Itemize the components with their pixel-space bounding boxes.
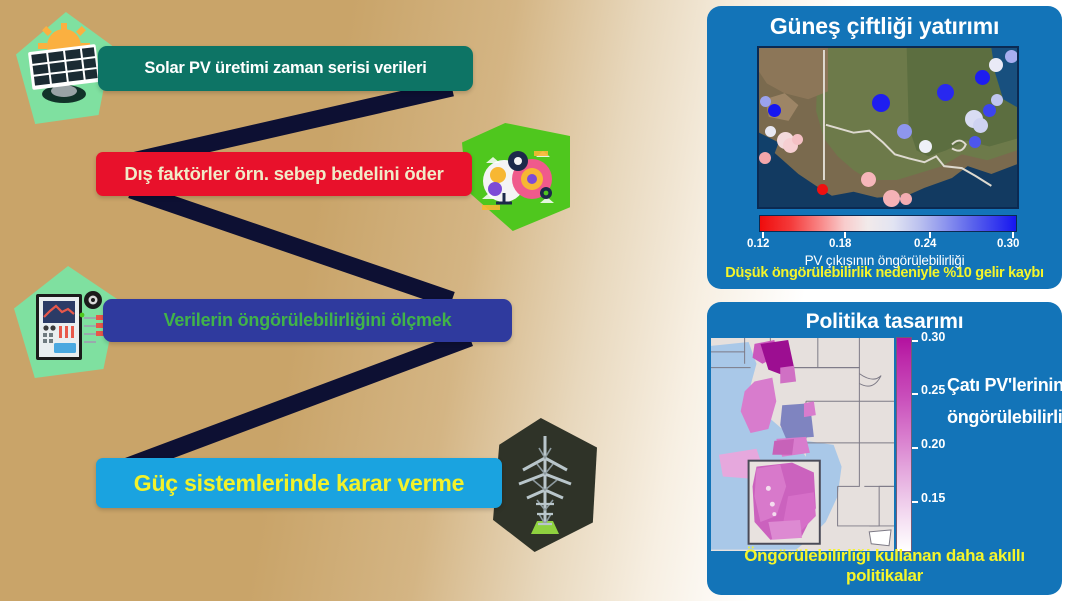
scatter-point bbox=[975, 70, 990, 85]
policy-choropleth-map[interactable] bbox=[710, 337, 895, 552]
scatter-point bbox=[973, 118, 988, 133]
scatter-point bbox=[983, 104, 996, 117]
solar-colorbar bbox=[759, 215, 1017, 232]
infographic-gears-icon bbox=[462, 123, 570, 231]
colorbar-tick-label: 0.25 bbox=[921, 383, 945, 397]
solar-card-title: Güneş çiftliği yatırımı bbox=[707, 6, 1062, 40]
scatter-point bbox=[919, 140, 932, 153]
scatter-point bbox=[991, 94, 1003, 106]
process-flow-diagram: Solar PV üretimi zaman serisi verileri D… bbox=[0, 0, 700, 601]
colorbar-tick-label: 0.24 bbox=[914, 238, 936, 250]
policy-card-caption: Öngörülebilirliği kullanan daha akıllı p… bbox=[707, 546, 1062, 586]
policy-side-note: Çatı PV'lerinin öngörülebilirliği bbox=[947, 370, 1059, 433]
scatter-point bbox=[765, 126, 776, 137]
colorbar-tick-label: 0.15 bbox=[921, 491, 945, 505]
scatter-point bbox=[989, 58, 1003, 72]
flow-step-2[interactable]: Dış faktörler örn. sebep bedelini öder bbox=[96, 152, 472, 196]
policy-colorbar-labels: 0.30 0.25 0.20 0.15 bbox=[921, 330, 963, 558]
solar-investment-card: Güneş çiftliği yatırımı bbox=[707, 6, 1062, 289]
policy-side-note-line2: öngörülebilirliği bbox=[947, 402, 1059, 434]
transmission-tower-icon bbox=[493, 418, 597, 552]
satellite-scatter-map[interactable] bbox=[757, 46, 1019, 209]
scatter-point bbox=[768, 104, 781, 117]
solar-card-caption: Düşük öngörülebilirlik nedeniyle %10 gel… bbox=[707, 265, 1062, 281]
colorbar-tick-label: 0.12 bbox=[747, 238, 769, 250]
scatter-point bbox=[900, 193, 912, 205]
policy-design-card: Politika tasarımı bbox=[707, 302, 1062, 595]
scatter-point bbox=[937, 84, 954, 101]
policy-card-title: Politika tasarımı bbox=[707, 302, 1062, 334]
policy-colorbar-ticks bbox=[912, 337, 920, 552]
scatter-point bbox=[817, 184, 828, 195]
scatter-point bbox=[969, 136, 981, 148]
colorbar-tick-label: 0.30 bbox=[921, 330, 945, 344]
infographic-canvas: Solar PV üretimi zaman serisi verileri D… bbox=[0, 0, 1068, 601]
scatter-point bbox=[760, 96, 771, 107]
colorbar-tick-label: 0.20 bbox=[921, 437, 945, 451]
colorbar-tick-label: 0.18 bbox=[829, 238, 851, 250]
policy-side-note-line1: Çatı PV'lerinin bbox=[947, 370, 1059, 402]
scatter-point bbox=[792, 134, 803, 145]
flow-step-4[interactable]: Güç sistemlerinde karar verme bbox=[96, 458, 502, 508]
colorbar-tick-label: 0.30 bbox=[997, 238, 1019, 250]
scatter-point bbox=[872, 94, 890, 112]
scatter-point bbox=[861, 172, 876, 187]
flow-step-3[interactable]: Verilerin öngörülebilirliğini ölçmek bbox=[103, 299, 512, 342]
scatter-point bbox=[759, 152, 771, 164]
flow-step-1[interactable]: Solar PV üretimi zaman serisi verileri bbox=[98, 46, 473, 91]
solar-colorbar-labels: 0.12 0.18 0.24 0.30 bbox=[747, 238, 1032, 254]
scatter-point bbox=[897, 124, 912, 139]
scatter-point bbox=[1005, 50, 1018, 63]
scatter-point bbox=[883, 190, 900, 207]
policy-colorbar bbox=[896, 337, 912, 552]
